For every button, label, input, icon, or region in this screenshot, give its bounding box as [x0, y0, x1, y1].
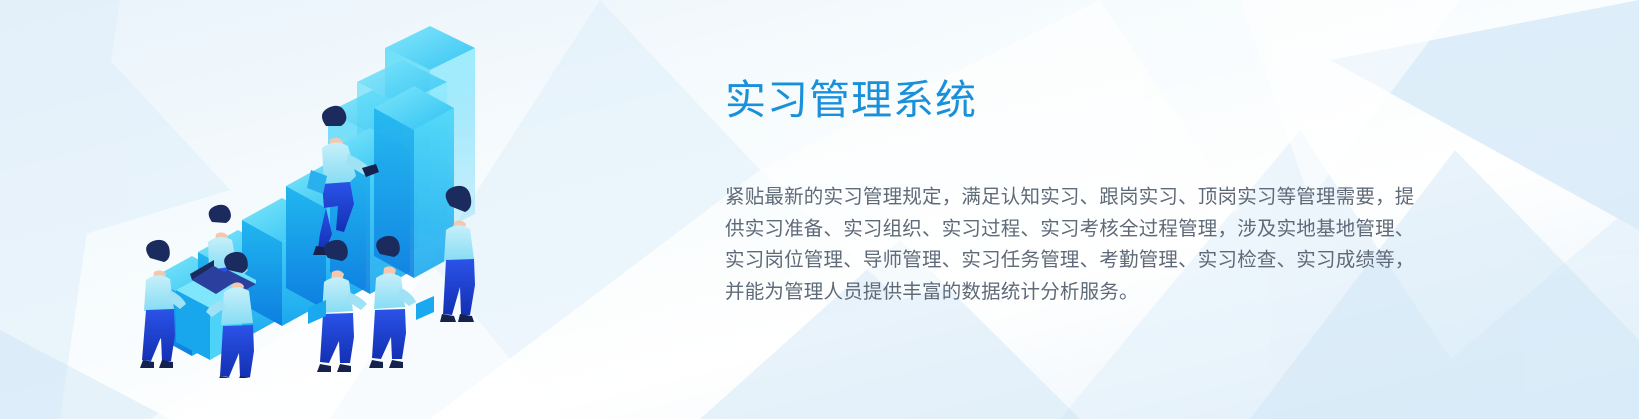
description-line-2: 供实习准备、实习组织、实习过程、实习考核全过程管理，涉及实地基地管理、	[725, 214, 1405, 246]
description-line-4: 并能为管理人员提供丰富的数据统计分析服务。	[725, 277, 1405, 309]
hero-banner: 实习管理系统 紧贴最新的实习管理规定，满足认知实习、跟岗实习、顶岗实习等管理需要…	[0, 0, 1639, 419]
banner-description: 紧贴最新的实习管理规定，满足认知实习、跟岗实习、顶岗实习等管理需要，提 供实习准…	[725, 126, 1405, 308]
banner-copy: 实习管理系统 紧贴最新的实习管理规定，满足认知实习、跟岗实习、顶岗实习等管理需要…	[725, 74, 1415, 308]
description-line-3: 实习岗位管理、导师管理、实习任务管理、考勤管理、实习检查、实习成绩等，	[725, 245, 1405, 277]
page-title: 实习管理系统	[725, 74, 1415, 126]
description-line-1: 紧贴最新的实习管理规定，满足认知实习、跟岗实习、顶岗实习等管理需要，提	[725, 182, 1405, 214]
isometric-growth-chart-people	[130, 8, 520, 378]
